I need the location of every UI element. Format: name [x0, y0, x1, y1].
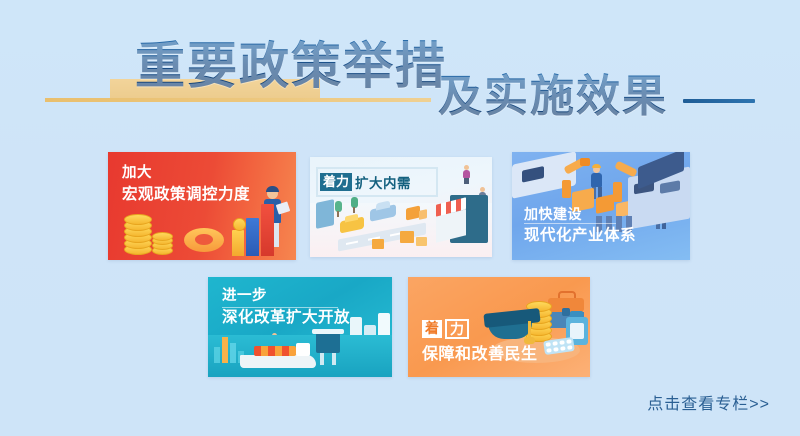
expand-domestic-demand-card[interactable]: 着力 扩大内需: [310, 157, 492, 257]
delivery-truck-icon: [406, 207, 428, 220]
package-box-icon: [416, 237, 427, 246]
coin-stack-icon: [124, 214, 152, 254]
deepen-reform-card-text: 进一步 深化改革扩大开放: [222, 287, 350, 327]
deepen-reform-line1: 进一步: [222, 287, 350, 306]
kiosk-icon: [316, 199, 334, 229]
tree-icon: [350, 197, 358, 213]
port-crane-icon: [312, 323, 346, 365]
cargo-ship-icon: [240, 343, 316, 369]
page-title-sub: 及实施效果: [438, 72, 668, 122]
shop-building-icon: [436, 187, 488, 243]
package-box-icon: [400, 231, 414, 243]
donut-chart-icon: [184, 224, 224, 254]
macro-policy-line1: 加大: [122, 164, 250, 183]
title-left-rule: [45, 98, 431, 102]
livelihood-line2: 保障和改善民生: [422, 345, 538, 365]
modern-industry-card-text: 加快建设 现代化产业体系: [524, 206, 636, 246]
policy-cards-grid: 加大 宏观政策调控力度: [0, 138, 800, 388]
macro-policy-card-text: 加大 宏观政策调控力度: [122, 164, 250, 204]
page-title-main: 重要政策举措: [135, 38, 447, 94]
modern-industry-line2: 现代化产业体系: [524, 226, 636, 246]
title-right-rule: [683, 99, 755, 103]
person-figure-icon: [462, 165, 470, 183]
livelihood-badge-row: 着 力: [422, 319, 469, 339]
macro-policy-line2: 宏观政策调控力度: [122, 185, 250, 205]
graduation-cap-icon: [484, 305, 544, 345]
modern-industry-line1: 加快建设: [524, 206, 636, 224]
expand-demand-line2: 扩大内需: [355, 172, 411, 192]
view-column-link[interactable]: 点击查看专栏>>: [647, 390, 770, 414]
package-box-icon: [372, 239, 384, 249]
deepen-reform-opening-card[interactable]: 进一步 深化改革扩大开放: [208, 277, 392, 377]
bar-chart-icon: [232, 196, 276, 256]
macro-policy-card[interactable]: 加大 宏观政策调控力度: [108, 152, 296, 260]
livelihood-badge: 着: [422, 320, 442, 337]
banner: 重要政策举措 及实施效果: [0, 0, 800, 138]
coin-stack-small-icon: [152, 232, 172, 256]
livelihood-card[interactable]: 着 力 保障和改善民生: [408, 277, 590, 377]
livelihood-badge2: 力: [445, 319, 469, 339]
expand-demand-badge: 着力: [320, 173, 352, 191]
deepen-reform-line2: 深化改革扩大开放: [222, 308, 350, 328]
livelihood-card-text: 保障和改善民生: [422, 345, 538, 365]
tree-icon: [334, 201, 342, 217]
modern-industry-system-card[interactable]: 加快建设 现代化产业体系: [512, 152, 690, 260]
expand-demand-card-text: 着力 扩大内需: [320, 172, 411, 192]
